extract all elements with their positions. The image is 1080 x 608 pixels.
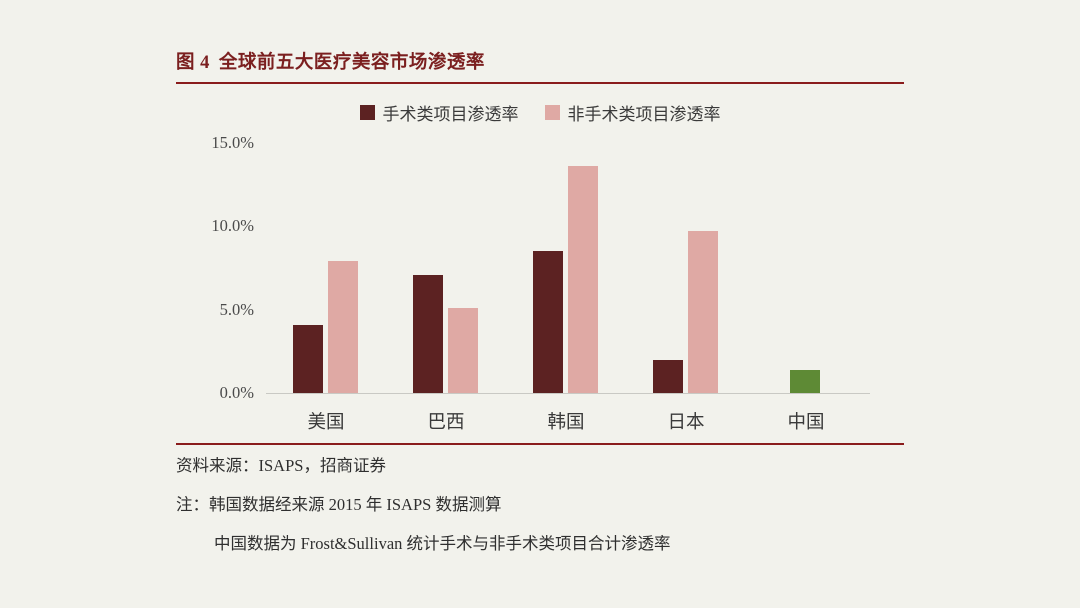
legend-swatch-nonsurgical: [545, 105, 560, 120]
legend-swatch-surgical: [360, 105, 375, 120]
note-source: 资料来源：ISAPS，招商证券: [176, 452, 936, 476]
figure-title-text: 全球前五大医疗美容市场渗透率: [219, 53, 485, 73]
notes-divider: [176, 443, 904, 445]
note-korea: 注：韩国数据经来源 2015 年 ISAPS 数据测算: [176, 491, 936, 515]
bar-nonsurgical-3: [688, 231, 718, 393]
x-axis-label-3: 日本: [626, 398, 746, 434]
bar-groups: [266, 143, 866, 393]
legend-label-nonsurgical: 非手术类项目渗透率: [568, 100, 721, 125]
legend-item-nonsurgical: 非手术类项目渗透率: [545, 100, 721, 125]
bar-surgical-1: [413, 275, 443, 393]
figure-number: 图 4: [176, 53, 210, 73]
figure-notes: 资料来源：ISAPS，招商证券 注：韩国数据经来源 2015 年 ISAPS 数…: [176, 452, 936, 569]
x-axis-label-2: 韩国: [506, 398, 626, 434]
bar-nonsurgical-0: [328, 261, 358, 393]
legend-label-surgical: 手术类项目渗透率: [383, 100, 519, 125]
bar-nonsurgical-2: [568, 166, 598, 393]
bar-total-china: [790, 370, 820, 393]
bar-group-4: [746, 143, 866, 393]
bar-nonsurgical-1: [448, 308, 478, 393]
note-china: 中国数据为 Frost&Sullivan 统计手术与非手术类项目合计渗透率: [176, 530, 936, 554]
x-axis-labels: 美国 巴西 韩国 日本 中国: [266, 398, 866, 434]
bar-group-2: [506, 143, 626, 393]
y-axis-tick-2: 10.0%: [211, 216, 266, 236]
x-axis-label-0: 美国: [266, 398, 386, 434]
page-title: 图 4全球前五大医疗美容市场渗透率: [176, 48, 904, 74]
x-axis-label-1: 巴西: [386, 398, 506, 434]
bar-chart-plot: 15.0% 10.0% 5.0% 0.0%: [266, 143, 866, 393]
y-axis-tick-1: 5.0%: [220, 300, 266, 320]
x-axis-label-4: 中国: [746, 398, 866, 434]
chart-legend: 手术类项目渗透率 非手术类项目渗透率: [176, 100, 904, 125]
bar-surgical-2: [533, 251, 563, 393]
title-divider: [176, 82, 904, 84]
y-axis-tick-0: 0.0%: [220, 383, 266, 403]
bar-group-1: [386, 143, 506, 393]
bar-surgical-3: [653, 360, 683, 393]
figure-panel: 图 4全球前五大医疗美容市场渗透率 手术类项目渗透率 非手术类项目渗透率 15.…: [0, 0, 1080, 608]
bar-group-3: [626, 143, 746, 393]
bar-group-0: [266, 143, 386, 393]
bar-surgical-0: [293, 325, 323, 393]
y-axis-tick-3: 15.0%: [211, 133, 266, 153]
figure-title-row: 图 4全球前五大医疗美容市场渗透率: [176, 48, 904, 74]
legend-item-surgical: 手术类项目渗透率: [360, 100, 519, 125]
x-axis-line: [266, 393, 870, 394]
